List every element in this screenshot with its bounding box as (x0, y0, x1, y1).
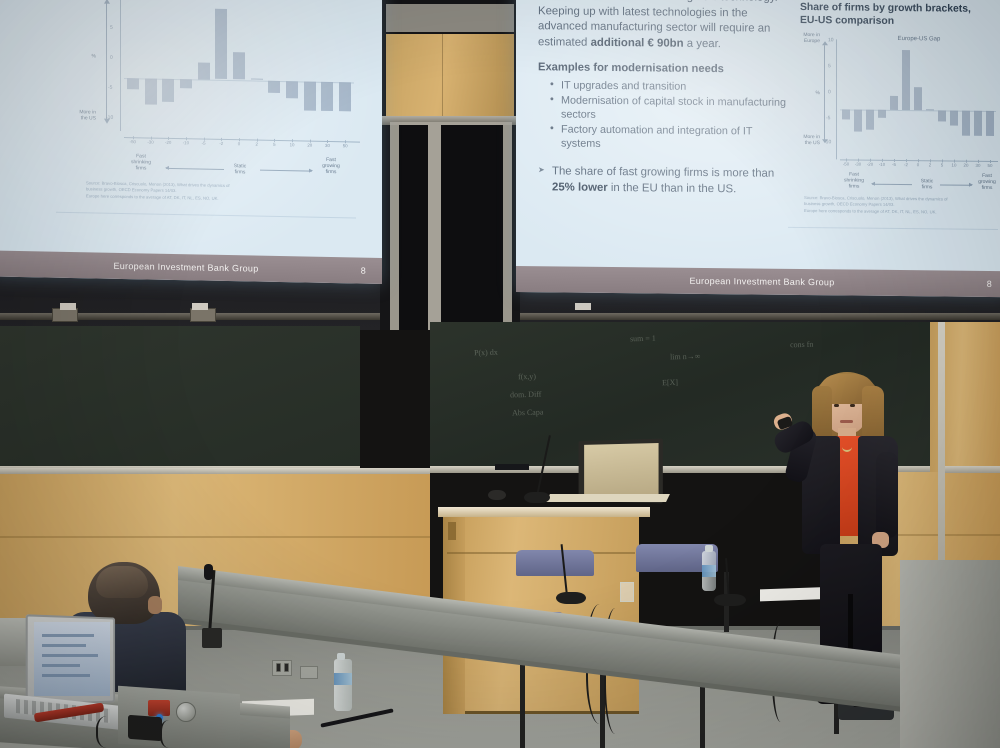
attendee-ear (148, 596, 162, 614)
yaxis (120, 0, 121, 131)
ytick: -5 (108, 85, 112, 91)
xtick: 10 (948, 163, 960, 168)
drinking-glass (620, 582, 634, 602)
xtick-mark (990, 160, 991, 163)
av-cable (96, 716, 122, 748)
desk-outlet (276, 663, 281, 672)
xtick: -30 (852, 162, 864, 167)
xtick-mark (274, 139, 275, 142)
xtick: 50 (984, 163, 996, 168)
chalkboard-left (0, 326, 360, 466)
xtick-mark (186, 137, 187, 140)
water-bottle (702, 551, 716, 591)
desk-outlet-plate-2 (300, 666, 318, 679)
wall-trim (0, 468, 430, 474)
ytick: 10 (828, 37, 834, 43)
podium-laptop-screen (584, 443, 658, 499)
xtick: -10 (177, 140, 195, 145)
slide-footer-right: European Investment Bank Group 8 (516, 266, 1000, 297)
list-item: Modernisation of capital stock in manufa… (550, 94, 788, 125)
xtick-mark (870, 159, 871, 162)
xtick: 30 (319, 143, 337, 148)
chart-bar (286, 81, 298, 99)
final-bullet-tail: in the EU than in the US. (608, 182, 737, 195)
projection-screen-right: EU firms are slow at absorbing new techn… (516, 0, 1000, 297)
final-bullet: The share of fast growing firms is more … (538, 165, 788, 199)
slide-paragraph-tail: a year. (684, 37, 721, 49)
chart-bar (950, 111, 958, 126)
chart-bar (926, 109, 934, 111)
mouth (840, 420, 853, 423)
ytick: 0 (110, 55, 113, 61)
xcap-mid: Staticfirms (220, 163, 260, 176)
footer-page-number: 8 (987, 279, 992, 289)
yaxis-arrow-up (104, 0, 110, 4)
xtick-mark (846, 158, 847, 161)
xtick-mark (168, 137, 169, 140)
xcap-left: Fastshrinkingfirms (834, 171, 874, 189)
attendee-laptop-screen (34, 622, 110, 696)
doorway (390, 125, 512, 330)
arm-right (876, 452, 898, 538)
mouse (488, 490, 506, 500)
xtick-mark (133, 136, 134, 139)
yaxis-bottom-label: More inthe US (786, 135, 820, 147)
chalk-note: f(x,y) (518, 372, 536, 381)
eye-left (834, 404, 839, 407)
list-item: Factory automation and integration of IT… (550, 123, 788, 154)
xtick: 2 (924, 162, 936, 167)
ceiling-speaker (60, 303, 76, 310)
rail-mount (52, 308, 78, 322)
chart-bar (268, 80, 280, 93)
eraser (495, 464, 529, 470)
door-mullion (428, 125, 441, 330)
chart-bar (233, 52, 245, 79)
ceiling-speaker (575, 303, 591, 310)
table-microphone-base (556, 592, 586, 604)
xtick-mark (930, 159, 931, 162)
yaxis-mid-label: % (786, 91, 820, 97)
yaxis (836, 39, 837, 159)
chalk-note: E[X] (662, 378, 678, 387)
xtick-mark (954, 160, 955, 163)
xtick-mark (882, 159, 883, 162)
screen-text-line (42, 664, 80, 667)
flow-arrow-left (166, 168, 224, 170)
chart-bar (878, 110, 886, 118)
foreground-desk-right (900, 560, 1000, 748)
chart-bar (215, 8, 227, 79)
chart-bar (162, 78, 174, 102)
wood-panel (386, 34, 514, 116)
chart-left: Europe-US Gap More inEurope % More inthe… (68, 0, 360, 220)
xtick: -2 (900, 162, 912, 167)
ytick: -10 (106, 115, 113, 121)
chart-right: Share of firms by growth brackets,EU-US … (794, 0, 1000, 237)
xtick: -20 (159, 140, 177, 145)
chalk-note: cons fn (790, 340, 814, 350)
yaxis-bottom-label: More inthe US (62, 110, 96, 122)
screen-text-line (42, 634, 94, 637)
xcap-mid: Staticfirms (910, 178, 944, 190)
yaxis-mid-label: % (62, 54, 96, 60)
xtick: -5 (888, 162, 900, 167)
slide-paragraph-bold: additional € 90bn (591, 36, 684, 49)
final-bullet-bold: 25% lower (552, 181, 608, 194)
divider (788, 227, 998, 230)
xtick-mark (978, 160, 979, 163)
lectern-hinge (448, 522, 456, 540)
ceiling-speaker (192, 303, 208, 310)
xaxis-ticks: -50-30-20-10-5-202510203050 (840, 161, 998, 172)
xtick: 20 (960, 163, 972, 168)
xtick: 20 (301, 142, 319, 147)
ytick: 0 (828, 89, 831, 95)
chart-bar (198, 62, 210, 79)
chart-bar (145, 78, 157, 105)
chart-bar (854, 110, 862, 132)
table-microphone-base-2 (714, 594, 746, 606)
final-bullet-head: The share of fast growing firms is more … (552, 166, 774, 180)
flow-arrow-left (872, 184, 912, 185)
chart-bar (304, 81, 316, 111)
chart-bar (339, 82, 351, 112)
xtick-mark (221, 138, 222, 141)
xtick-mark (345, 140, 346, 143)
desk-outlet (284, 663, 289, 672)
xtick-mark (204, 138, 205, 141)
footer-text: European Investment Bank Group (689, 276, 834, 288)
xtick: -10 (876, 162, 888, 167)
chart-bar (890, 96, 898, 110)
chart-bar (842, 109, 850, 119)
podium-microphone-base (524, 492, 550, 503)
ytick: -10 (824, 139, 831, 145)
chart-bar (986, 111, 994, 136)
rail-mount (190, 308, 216, 322)
xtick-mark (966, 160, 967, 163)
chalk-note: lim n→∞ (670, 352, 701, 362)
ytick: -5 (826, 115, 830, 121)
screen-text-line (42, 654, 98, 657)
attendee-hair (96, 566, 148, 598)
chart-source-note: Source: Bravo-Biosca, Criscuolo, Menon (… (86, 180, 348, 204)
chart-source-note: Source: Bravo-Biosca, Criscuolo, Menon (… (804, 195, 1000, 216)
chart-bar (962, 111, 970, 136)
xtick: -30 (142, 139, 160, 144)
eye-right (850, 404, 855, 407)
xtick-mark (942, 159, 943, 162)
xtick-mark (858, 159, 859, 162)
chart-bar (127, 78, 139, 90)
flow-arrow-right (940, 184, 972, 185)
xtick: 10 (283, 142, 301, 147)
bottle-label (334, 673, 352, 685)
lectern-top (438, 507, 650, 517)
xtick: -20 (864, 162, 876, 167)
chalk-note: dom. Diff (510, 390, 542, 400)
xtick-mark (918, 159, 919, 162)
desk-outlet-plate (272, 660, 292, 676)
wall-trim (940, 466, 1000, 473)
xtick: 50 (336, 143, 354, 148)
xtick-mark (151, 137, 152, 140)
footer-text: European Investment Bank Group (113, 261, 258, 274)
xtick: 0 (912, 162, 924, 167)
chart-bar (938, 110, 946, 121)
yaxis-arrow-up (822, 41, 828, 45)
projection-screen-left: sg s on Europe-US Gap More inEurope % Mo… (0, 0, 382, 284)
ytick: 5 (828, 63, 831, 69)
examples-list: IT upgrades and transition Modernisation… (550, 79, 788, 154)
xtick-mark (310, 140, 311, 143)
yaxis-arrow-line (824, 45, 825, 141)
chair-back (516, 550, 594, 576)
av-cable-block (128, 715, 162, 741)
screen-text-line (42, 674, 90, 677)
xcap-left: Fastshrinkingfirms (118, 153, 164, 172)
slide-text-block: EU firms are slow at absorbing new techn… (538, 0, 788, 198)
chart-bar (902, 50, 910, 110)
chart-bar (866, 110, 874, 130)
xtick-mark (327, 140, 328, 143)
xcap-right: Fastgrowingfirms (308, 157, 354, 176)
audience-microphone-base (202, 628, 222, 648)
xtick: -5 (195, 140, 213, 145)
screen-text-line (42, 644, 86, 647)
xtick-mark (239, 138, 240, 141)
flow-arrow-right (260, 170, 312, 172)
footer-page-number: 8 (361, 266, 366, 276)
xtick: 5 (936, 162, 948, 167)
examples-heading: Examples for modernisation needs (538, 60, 788, 78)
podium-laptop-base (546, 494, 670, 502)
av-volume-knob (176, 702, 196, 722)
divider (56, 212, 356, 219)
xtick: 30 (972, 163, 984, 168)
chart-bar (974, 111, 982, 136)
chart-plot-area (840, 39, 996, 153)
yaxis-arrow-line (106, 3, 107, 121)
chart-bar (321, 81, 333, 111)
chart-bar (180, 79, 192, 89)
chalk-note: sum = 1 (630, 334, 656, 344)
upper-panel (386, 4, 514, 32)
bottle-cap (705, 545, 713, 552)
chart-plot-area (124, 0, 354, 131)
xtick: -2 (212, 141, 230, 146)
chalk-note: Abs Capa (512, 408, 544, 418)
lecture-hall-photo: sg s on Europe-US Gap More inEurope % Mo… (0, 0, 1000, 748)
xtick: -50 (124, 139, 142, 144)
chart-bar (914, 87, 922, 110)
ytick: 5 (110, 25, 113, 31)
wall-seam (0, 536, 430, 538)
audience-water-bottle (334, 659, 352, 711)
xtick: 2 (248, 141, 266, 146)
xtick-mark (906, 159, 907, 162)
bottle-cap (337, 653, 345, 660)
chart-bar (251, 78, 263, 80)
xtick-mark (894, 159, 895, 162)
slide-paragraph: EU firms are slow at absorbing new techn… (538, 0, 788, 53)
bottle-label (702, 565, 716, 577)
xtick: 0 (230, 141, 248, 146)
necklace (842, 442, 852, 452)
xtick: -50 (840, 161, 852, 166)
yaxis-top-label: More inEurope (786, 33, 820, 45)
xtick-mark (257, 139, 258, 142)
wall-between-screens (380, 0, 520, 330)
list-item: IT upgrades and transition (550, 79, 788, 96)
chalk-note: P(x) dx (474, 348, 498, 358)
audience-microphone-head (204, 564, 213, 580)
xtick: 5 (266, 142, 284, 147)
xtick-mark (292, 139, 293, 142)
av-cable (160, 720, 182, 748)
chart-heading: Share of firms by growth brackets,EU-US … (800, 1, 990, 30)
